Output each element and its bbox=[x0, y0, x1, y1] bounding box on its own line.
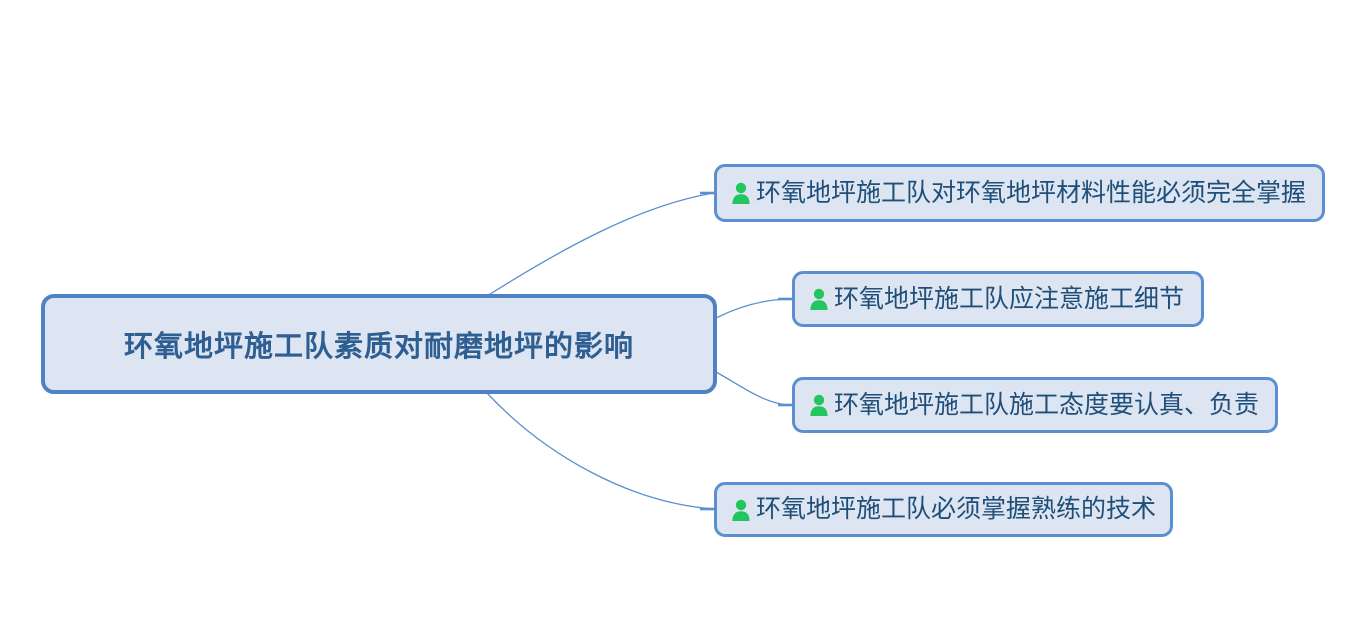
branch-node-3[interactable]: 环氧地坪施工队施工态度要认真、负责 bbox=[792, 377, 1278, 433]
connector-central-to-branch-3 bbox=[716, 372, 792, 405]
mindmap-canvas: 环氧地坪施工队素质对耐磨地坪的影响 环氧地坪施工队对环氧地坪材料性能必须完全掌握… bbox=[0, 0, 1367, 641]
branch-node-4[interactable]: 环氧地坪施工队必须掌握熟练的技术 bbox=[714, 482, 1173, 537]
central-node[interactable]: 环氧地坪施工队素质对耐磨地坪的影响 bbox=[41, 294, 717, 394]
connector-central-to-branch-4 bbox=[487, 393, 714, 509]
branch-node-3-label: 环氧地坪施工队施工态度要认真、负责 bbox=[834, 393, 1259, 418]
branch-node-1-label: 环氧地坪施工队对环氧地坪材料性能必须完全掌握 bbox=[756, 181, 1306, 206]
person-icon bbox=[731, 498, 751, 522]
branch-node-4-label: 环氧地坪施工队必须掌握熟练的技术 bbox=[756, 497, 1156, 522]
branch-node-2[interactable]: 环氧地坪施工队应注意施工细节 bbox=[792, 271, 1204, 327]
person-icon bbox=[809, 393, 829, 417]
branch-node-1[interactable]: 环氧地坪施工队对环氧地坪材料性能必须完全掌握 bbox=[714, 164, 1325, 222]
branch-node-2-label: 环氧地坪施工队应注意施工细节 bbox=[834, 287, 1184, 312]
central-node-label: 环氧地坪施工队素质对耐磨地坪的影响 bbox=[124, 323, 634, 365]
person-icon bbox=[731, 181, 751, 205]
connector-central-to-branch-1 bbox=[487, 193, 714, 296]
connector-central-to-branch-2 bbox=[716, 299, 792, 318]
person-icon bbox=[809, 287, 829, 311]
